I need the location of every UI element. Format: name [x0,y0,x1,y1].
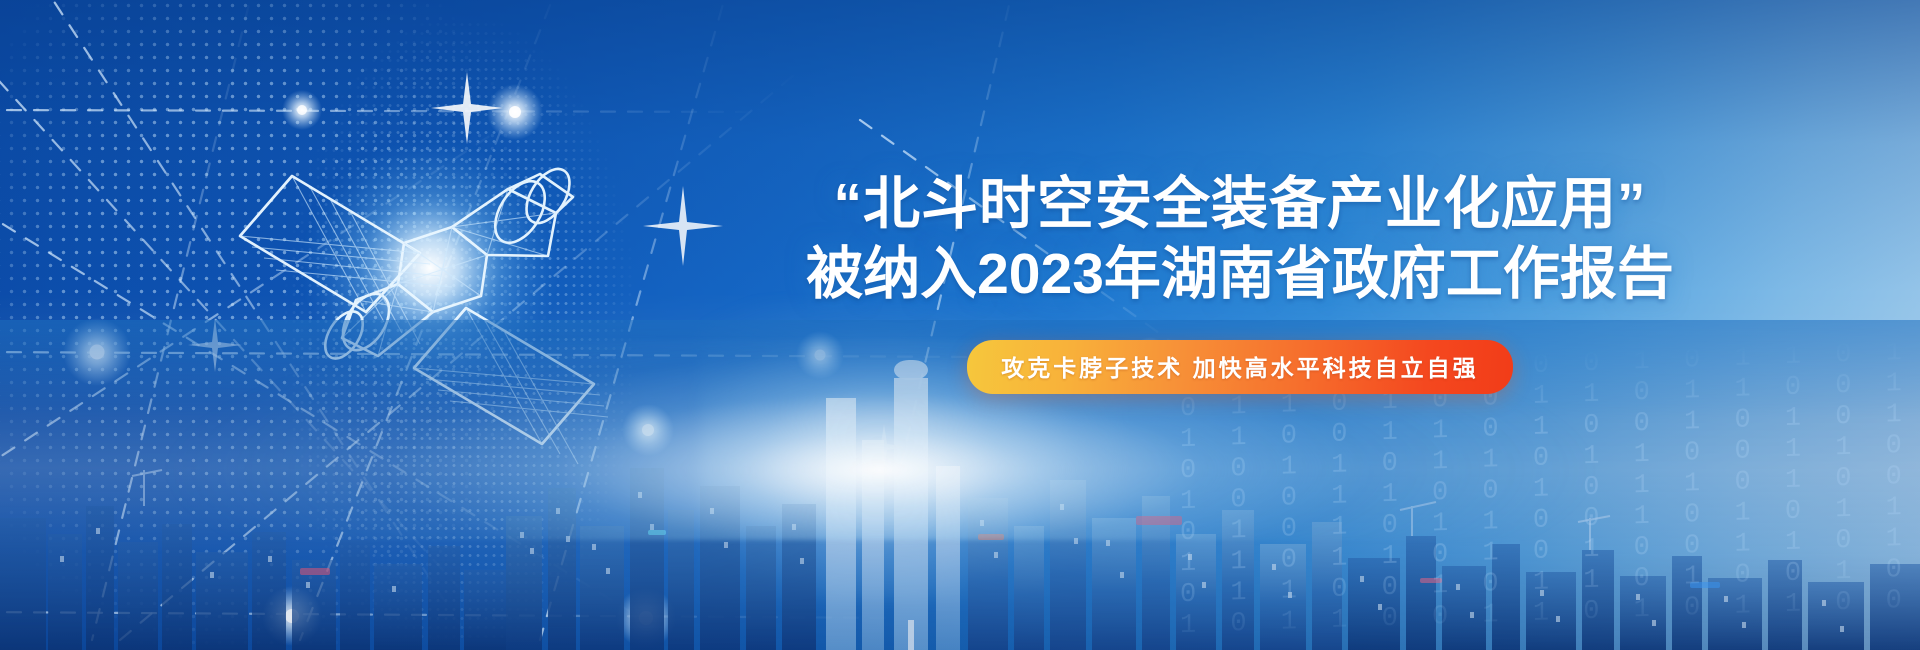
slogan-pill-wrapper: 攻克卡脖子技术 加快高水平科技自立自强 [780,340,1700,394]
banner-copy-block: “北斗时空安全装备产业化应用” 被纳入2023年湖南省政府工作报告 攻克卡脖子技… [780,172,1700,394]
headline-line-2: 被纳入2023年湖南省政府工作报告 [780,242,1700,306]
banner-root: 1 0 1 0 0 1 1 0 0 1 0 1 1 0 1 0 0 1 1 0 … [0,0,1920,650]
headline-line-1: “北斗时空安全装备产业化应用” [780,172,1700,236]
slogan-pill[interactable]: 攻克卡脖子技术 加快高水平科技自立自强 [967,340,1512,394]
